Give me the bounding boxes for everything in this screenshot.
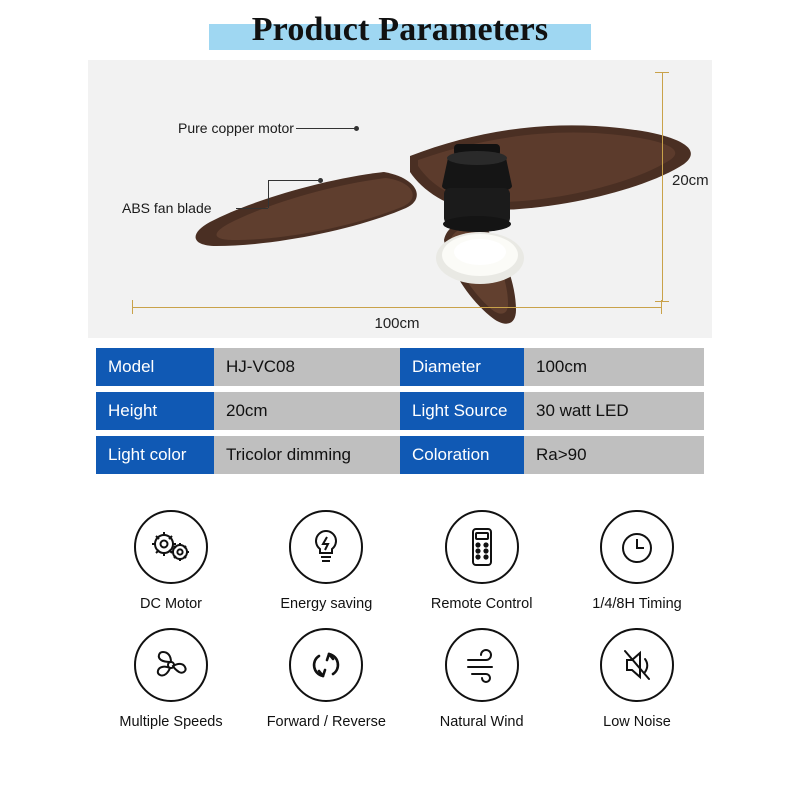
gears-icon [148,527,194,567]
spec-value: HJ-VC08 [214,348,400,386]
feature-label: Low Noise [603,714,671,730]
dimension-height [655,72,669,302]
lightbulb-icon [306,525,346,569]
callout-dot-blade [318,178,323,183]
spec-key: Coloration [400,436,524,474]
feature-circle [600,628,674,702]
dimension-width [132,300,662,314]
spec-key: Light color [96,436,214,474]
callout-label-blade: ABS fan blade [122,200,212,216]
spec-cell-height: Height 20cm [96,392,400,430]
feature-circle [289,628,363,702]
wind-icon [460,647,504,683]
feature-circle [289,510,363,584]
feature-label: DC Motor [140,596,202,612]
feature-timing: 1/4/8H Timing [562,510,712,612]
spec-key: Model [96,348,214,386]
feature-row-1: DC Motor Energy saving [96,510,712,612]
feature-label: Forward / Reverse [267,714,386,730]
table-row: Light color Tricolor dimming Coloration … [96,436,704,474]
feature-dc-motor: DC Motor [96,510,246,612]
feature-label: Energy saving [280,596,372,612]
page-title: Product Parameters [244,11,557,49]
callout-leader-blade-3 [268,180,320,181]
spec-value: Tricolor dimming [214,436,400,474]
spec-key: Light Source [400,392,524,430]
dimension-height-label: 20cm [672,172,709,189]
feature-label: Multiple Speeds [119,714,222,730]
reverse-arrows-icon [307,644,345,686]
feature-energy-saving: Energy saving [251,510,401,612]
spec-key: Height [96,392,214,430]
callout-leader-blade [236,208,268,209]
spec-cell-diameter: Diameter 100cm [400,348,704,386]
spec-value: Ra>90 [524,436,704,474]
feature-circle [445,628,519,702]
remote-control-icon [465,525,499,569]
ceiling-fan-illustration [88,60,712,338]
feature-circle [600,510,674,584]
feature-label: 1/4/8H Timing [592,596,681,612]
product-image-panel [88,60,712,338]
product-parameters-page: Product Parameters Pure copper m [0,0,800,800]
feature-label: Remote Control [431,596,533,612]
spec-cell-model: Model HJ-VC08 [96,348,400,386]
fan-speed-icon [150,644,192,686]
spec-cell-coloration: Coloration Ra>90 [400,436,704,474]
callout-leader-blade-2 [268,180,269,208]
feature-forward-reverse: Forward / Reverse [251,628,401,730]
feature-circle [445,510,519,584]
feature-circle [134,628,208,702]
dimension-width-label: 100cm [0,315,800,332]
feature-natural-wind: Natural Wind [407,628,557,730]
spec-cell-light-color: Light color Tricolor dimming [96,436,400,474]
callout-label-motor: Pure copper motor [178,120,294,136]
clock-icon [617,527,657,567]
feature-low-noise: Low Noise [562,628,712,730]
spec-value: 30 watt LED [524,392,704,430]
feature-circle [134,510,208,584]
spec-key: Diameter [400,348,524,386]
spec-value: 100cm [524,348,704,386]
feature-label: Natural Wind [440,714,524,730]
spec-table: Model HJ-VC08 Diameter 100cm Height 20cm… [96,348,704,480]
callout-dot-motor [354,126,359,131]
feature-grid: DC Motor Energy saving [96,510,712,746]
feature-remote-control: Remote Control [407,510,557,612]
table-row: Model HJ-VC08 Diameter 100cm [96,348,704,386]
spec-cell-light-source: Light Source 30 watt LED [400,392,704,430]
feature-multiple-speeds: Multiple Speeds [96,628,246,730]
page-title-wrap: Product Parameters [0,6,800,54]
feature-row-2: Multiple Speeds Forward / Reverse [96,628,712,730]
spec-value: 20cm [214,392,400,430]
table-row: Height 20cm Light Source 30 watt LED [96,392,704,430]
mute-speaker-icon [617,645,657,685]
callout-leader-motor [296,128,356,129]
